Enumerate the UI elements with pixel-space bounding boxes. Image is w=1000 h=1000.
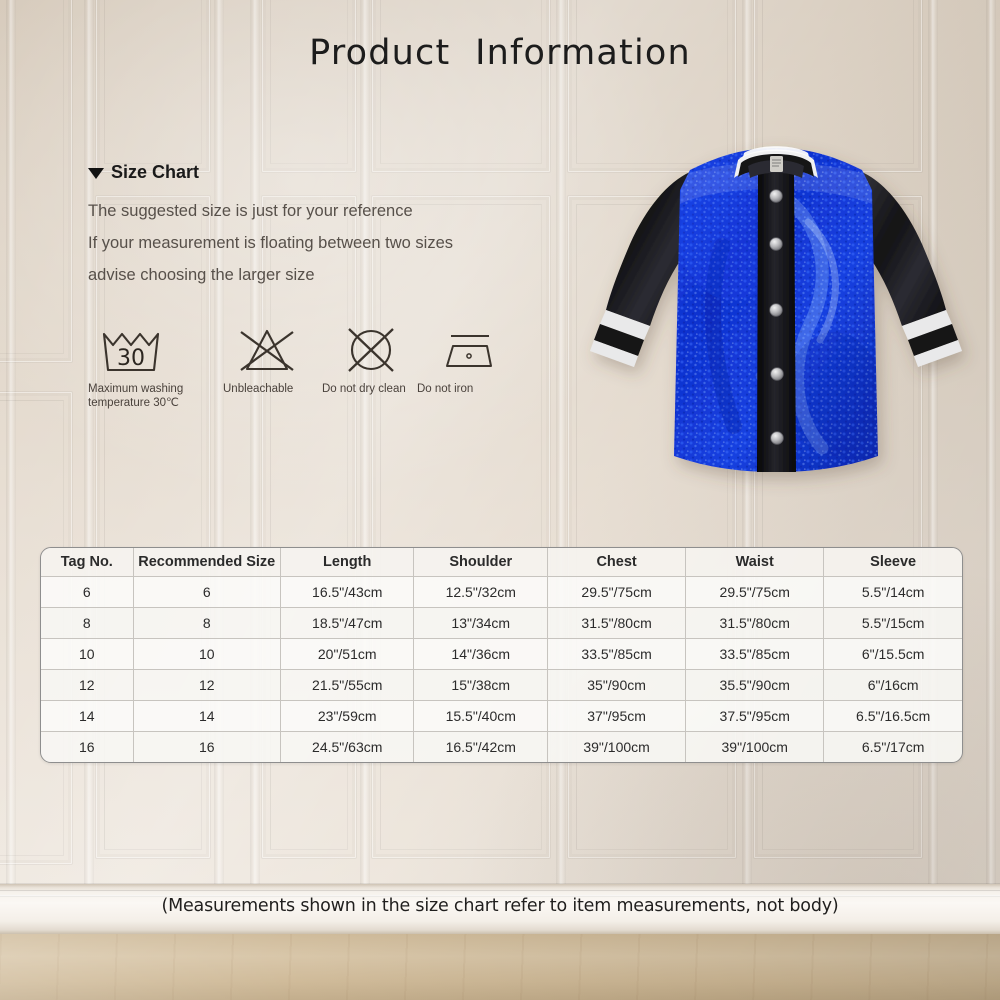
care-label: Unbleachable (223, 382, 297, 396)
cell-shoulder: 12.5"/32cm (414, 577, 548, 608)
care-item-wash: 30 Maximum washing temperature 30℃ (88, 326, 183, 410)
cell-tag-no: 6 (41, 577, 133, 608)
cell-waist: 37.5"/95cm (686, 701, 824, 732)
care-label: Do not iron (417, 382, 501, 396)
cell-waist: 39"/100cm (686, 732, 824, 763)
cell-tag-no: 14 (41, 701, 133, 732)
size-chart-note: advise choosing the larger size (88, 259, 558, 291)
cell-waist: 29.5"/75cm (686, 577, 824, 608)
size-chart-table-container: Tag No. Recommended Size Length Shoulder… (40, 547, 963, 763)
cell-length: 24.5"/63cm (280, 732, 414, 763)
cell-tag-no: 16 (41, 732, 133, 763)
column-header-sleeve: Sleeve (824, 548, 962, 577)
wall-panel (96, 0, 210, 172)
cell-chest: 37"/95cm (548, 701, 686, 732)
cell-tag-no: 8 (41, 608, 133, 639)
wooden-floor (0, 934, 1000, 1000)
column-header-waist: Waist (686, 548, 824, 577)
no-bleach-icon (237, 326, 297, 374)
column-header-shoulder: Shoulder (414, 548, 548, 577)
care-instructions-row: 30 Maximum washing temperature 30℃ Unble… (88, 326, 518, 426)
size-chart-table: Tag No. Recommended Size Length Shoulder… (41, 548, 962, 762)
page-title: Product Information (0, 33, 1000, 73)
cell-shoulder: 13"/34cm (414, 608, 548, 639)
cell-shoulder: 15.5"/40cm (414, 701, 548, 732)
cell-chest: 33.5"/85cm (548, 639, 686, 670)
cell-chest: 39"/100cm (548, 732, 686, 763)
table-row: 10 10 20"/51cm 14"/36cm 33.5"/85cm 33.5"… (41, 639, 962, 670)
cell-sleeve: 6"/15.5cm (824, 639, 962, 670)
care-label: Maximum washing temperature 30℃ (88, 382, 183, 410)
cell-sleeve: 6"/16cm (824, 670, 962, 701)
table-row: 12 12 21.5"/55cm 15"/38cm 35"/90cm 35.5"… (41, 670, 962, 701)
size-chart-section: Size Chart The suggested size is just fo… (88, 162, 558, 291)
table-row: 14 14 23"/59cm 15.5"/40cm 37"/95cm 37.5"… (41, 701, 962, 732)
cell-chest: 35"/90cm (548, 670, 686, 701)
svg-text:30: 30 (117, 346, 145, 371)
cell-tag-no: 12 (41, 670, 133, 701)
cell-sleeve: 6.5"/16.5cm (824, 701, 962, 732)
cell-recommended-size: 16 (133, 732, 280, 763)
cell-chest: 29.5"/75cm (548, 577, 686, 608)
table-row: 6 6 16.5"/43cm 12.5"/32cm 29.5"/75cm 29.… (41, 577, 962, 608)
column-header-recommended-size: Recommended Size (133, 548, 280, 577)
cell-waist: 35.5"/90cm (686, 670, 824, 701)
cell-shoulder: 15"/38cm (414, 670, 548, 701)
cell-length: 20"/51cm (280, 639, 414, 670)
measurement-footnote: (Measurements shown in the size chart re… (0, 896, 1000, 916)
cell-chest: 31.5"/80cm (548, 608, 686, 639)
care-item-dryclean: Do not dry clean (322, 326, 406, 396)
cell-recommended-size: 14 (133, 701, 280, 732)
cell-tag-no: 10 (41, 639, 133, 670)
cell-length: 18.5"/47cm (280, 608, 414, 639)
cell-sleeve: 5.5"/15cm (824, 608, 962, 639)
size-chart-note: The suggested size is just for your refe… (88, 195, 558, 227)
cell-shoulder: 14"/36cm (414, 639, 548, 670)
care-item-iron: Do not iron (417, 326, 501, 396)
size-chart-heading-label: Size Chart (111, 162, 199, 183)
cell-sleeve: 6.5"/17cm (824, 732, 962, 763)
cell-waist: 33.5"/85cm (686, 639, 824, 670)
cell-waist: 31.5"/80cm (686, 608, 824, 639)
cell-recommended-size: 8 (133, 608, 280, 639)
product-image-blue-sequin-baseball-jersey (572, 126, 980, 498)
size-chart-heading: Size Chart (88, 162, 558, 183)
cell-length: 23"/59cm (280, 701, 414, 732)
wall-seam (986, 0, 996, 888)
table-header-row: Tag No. Recommended Size Length Shoulder… (41, 548, 962, 577)
no-iron-icon (439, 326, 501, 374)
care-label: Do not dry clean (322, 382, 406, 396)
triangle-down-icon (88, 168, 104, 179)
table-row: 16 16 24.5"/63cm 16.5"/42cm 39"/100cm 39… (41, 732, 962, 763)
column-header-tag-no: Tag No. (41, 548, 133, 577)
cell-shoulder: 16.5"/42cm (414, 732, 548, 763)
cell-recommended-size: 6 (133, 577, 280, 608)
wall-panel (372, 0, 550, 172)
cell-length: 21.5"/55cm (280, 670, 414, 701)
wash-tub-30-icon: 30 (96, 326, 172, 374)
cell-recommended-size: 12 (133, 670, 280, 701)
column-header-chest: Chest (548, 548, 686, 577)
cell-sleeve: 5.5"/14cm (824, 577, 962, 608)
care-item-bleach: Unbleachable (223, 326, 297, 396)
cell-length: 16.5"/43cm (280, 577, 414, 608)
table-row: 8 8 18.5"/47cm 13"/34cm 31.5"/80cm 31.5"… (41, 608, 962, 639)
no-dry-clean-icon (342, 326, 400, 374)
cell-recommended-size: 10 (133, 639, 280, 670)
wall-panel (262, 0, 356, 172)
column-header-length: Length (280, 548, 414, 577)
size-chart-note: If your measurement is floating between … (88, 227, 558, 259)
